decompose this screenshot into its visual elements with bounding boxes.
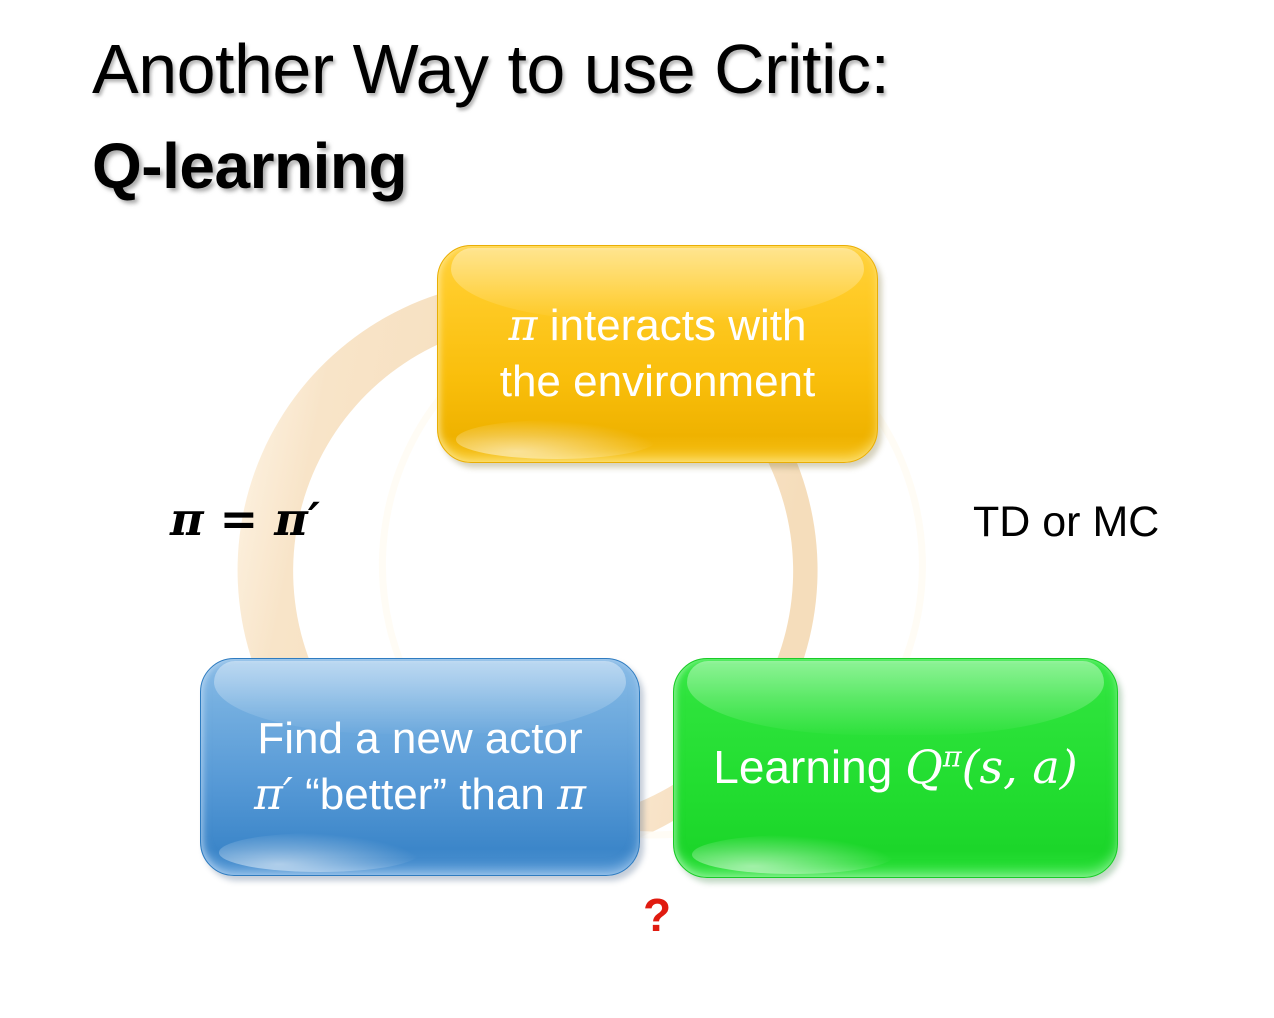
q-symbol: Q: [905, 740, 943, 794]
process-box-find-actor-line-2: π′ “better” than π: [215, 767, 625, 823]
better-than-text: “better” than: [293, 770, 557, 819]
interact-text: interacts with: [537, 301, 806, 350]
page-title-line-1: Another Way to use Critic:: [92, 34, 1192, 105]
pi-prime-symbol: π′: [254, 769, 293, 820]
pi-symbol: π: [509, 300, 538, 351]
pi-symbol: π: [170, 492, 204, 546]
process-box-interact-line-2: the environment: [452, 354, 863, 410]
process-box-interact-text: π interacts with the environment: [438, 298, 877, 410]
process-box-find-actor-line-1: Find a new actor: [215, 711, 625, 767]
slide-canvas: Another Way to use Critic: Q-learning: [0, 0, 1274, 1018]
state-action-args: (s, a): [962, 740, 1078, 794]
pi-symbol: π: [557, 769, 586, 820]
process-box-interact[interactable]: π interacts with the environment: [437, 245, 878, 463]
process-box-learning-q[interactable]: Learning Qπ(s, a): [673, 658, 1118, 878]
learning-label: Learning: [713, 741, 905, 793]
process-box-learning-q-text: Learning Qπ(s, a): [674, 739, 1117, 797]
page-title-line-2: Q-learning: [92, 133, 1192, 200]
label-policy-assignment: π = π′: [170, 492, 320, 546]
pi-superscript: π: [943, 741, 962, 774]
equals-symbol: =: [204, 492, 275, 546]
pi-prime-symbol: π′: [274, 492, 320, 546]
process-box-interact-line-1: π interacts with: [452, 298, 863, 354]
slide-title: Another Way to use Critic: Q-learning: [92, 34, 1192, 201]
process-box-find-actor[interactable]: Find a new actor π′ “better” than π: [200, 658, 640, 876]
label-td-or-mc: TD or MC: [973, 498, 1159, 547]
question-mark-annotation: ?: [643, 888, 671, 942]
process-box-find-actor-text: Find a new actor π′ “better” than π: [201, 711, 639, 823]
